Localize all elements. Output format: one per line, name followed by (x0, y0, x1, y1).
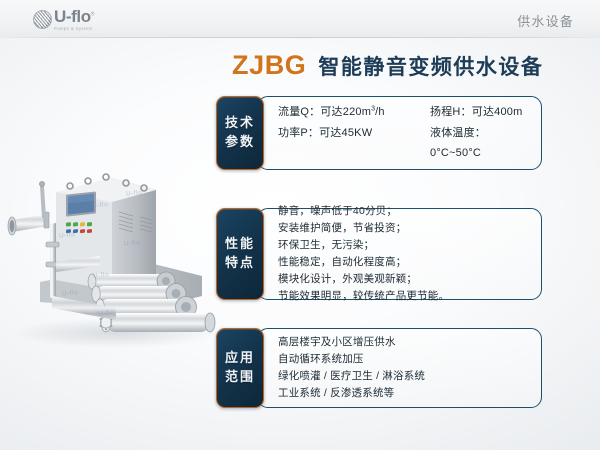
feature-item: 节能效果明显，较传统产品更节能。 (278, 288, 527, 305)
panel-tab-application-scope[interactable]: 应用 范围 (216, 328, 264, 408)
brand-logo-text: U-flo® Pumps & System (54, 8, 94, 31)
tab-label-line1: 应用 (225, 349, 255, 368)
panel-performance-features: 性能 特点 静音，噪声低于40分贝； 安装维护简便，节省投资； 环保卫生，无污染… (216, 208, 542, 300)
application-item: 自动循环系统加压 (278, 351, 527, 368)
spec-power-value: 可达45KW (319, 127, 372, 139)
spec-flow-unit: /h (375, 106, 385, 118)
brand-logo: U-flo® Pumps & System (33, 8, 94, 31)
spec-temperature-value: 0°C~50°C (430, 147, 481, 159)
tab-label-line2: 范围 (225, 368, 255, 387)
spec-head-label: 扬程H： (430, 106, 472, 118)
spec-flow: 流量Q：可达220m3/h (278, 102, 430, 123)
brand-name: U-flo (54, 8, 91, 25)
tab-label-line2: 参数 (225, 133, 255, 152)
panel-content-application-scope: 高层楼宇及小区增压供水 自动循环系统加压 绿化喷灌 / 医疗卫生 / 淋浴系统 … (257, 328, 542, 408)
brand-tagline: Pumps & System (54, 27, 94, 31)
product-spec-page: U-flo® Pumps & System 供水设备 ZJBG智能静音变频供水设… (0, 0, 600, 450)
spec-flow-label: 流量Q： (278, 106, 320, 118)
spec-row: 功率P：可达45KW 液体温度：0°C~50°C (278, 123, 527, 165)
spec-row: 流量Q：可达220m3/h 扬程H：可达400m (278, 102, 527, 123)
registered-trademark-icon: ® (91, 12, 95, 18)
panel-technical-parameters: 技术 参数 流量Q：可达220m3/h 扬程H：可达400m 功率P：可达45K… (216, 96, 542, 170)
pump-unit-illustration (0, 150, 228, 350)
spec-flow-value: 可达220m (320, 106, 371, 118)
product-category-label: 供水设备 (517, 11, 574, 30)
panel-application-scope: 应用 范围 高层楼宇及小区增压供水 自动循环系统加压 绿化喷灌 / 医疗卫生 /… (216, 328, 542, 408)
application-item: 绿化喷灌 / 医疗卫生 / 淋浴系统 (278, 368, 527, 385)
feature-item: 环保卫生，无污染； (278, 237, 527, 254)
product-code: ZJBG (232, 50, 306, 80)
spec-temperature-label: 液体温度： (430, 127, 486, 139)
page-title: ZJBG智能静音变频供水设备 (232, 50, 543, 81)
feature-item: 安装维护简便，节省投资； (278, 220, 527, 237)
panel-tab-technical-parameters[interactable]: 技术 参数 (216, 96, 264, 170)
application-item: 高层楼宇及小区增压供水 (278, 334, 527, 351)
application-item: 工业系统 / 反渗透系统等 (278, 385, 527, 402)
spec-head-value: 可达400m (472, 106, 523, 118)
spec-power-label: 功率P： (278, 127, 319, 139)
page-header: U-flo® Pumps & System 供水设备 (0, 0, 600, 38)
product-photo: U-flo U-flo U-flo U-flo U-flo U-flo U-fl… (0, 150, 228, 350)
panel-content-technical-parameters: 流量Q：可达220m3/h 扬程H：可达400m 功率P：可达45KW 液体温度… (257, 96, 542, 170)
tab-label-line2: 特点 (225, 254, 255, 273)
feature-item: 性能稳定，自动化程度高； (278, 254, 527, 271)
tab-label-line1: 技术 (225, 114, 255, 133)
feature-item: 模块化设计，外观美观新颖； (278, 271, 527, 288)
product-name: 智能静音变频供水设备 (318, 56, 543, 79)
globe-icon (33, 10, 52, 29)
tab-label-line1: 性能 (225, 235, 255, 254)
panel-content-performance-features: 静音，噪声低于40分贝； 安装维护简便，节省投资； 环保卫生，无污染； 性能稳定… (257, 208, 542, 300)
spec-temperature: 液体温度：0°C~50°C (430, 123, 527, 165)
spec-head: 扬程H：可达400m (430, 102, 522, 123)
panel-tab-performance-features[interactable]: 性能 特点 (216, 208, 264, 300)
spec-power: 功率P：可达45KW (278, 123, 430, 165)
feature-item: 静音，噪声低于40分贝； (278, 203, 527, 220)
